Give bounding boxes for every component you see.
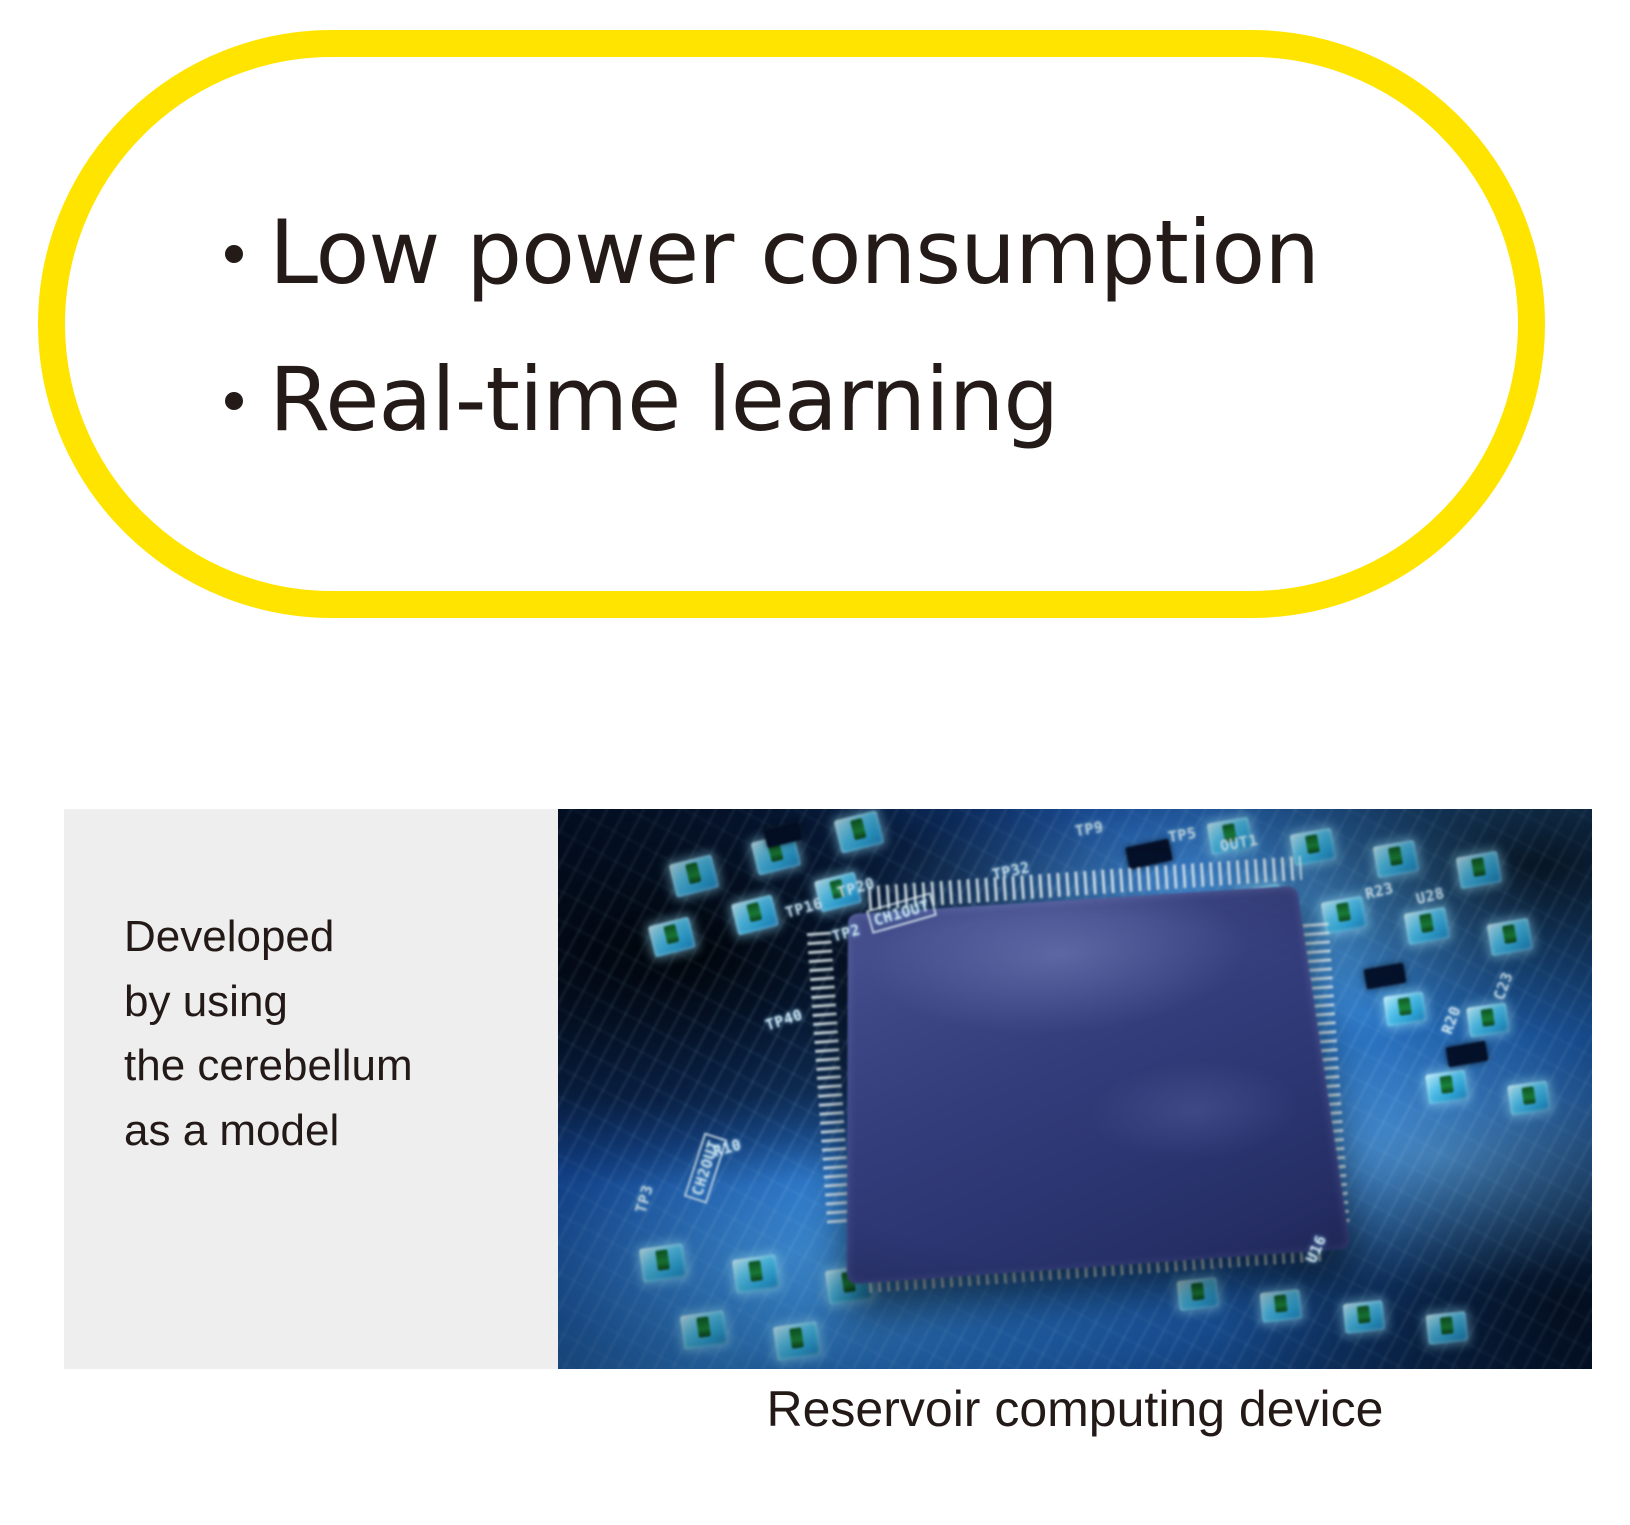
slide-canvas: Low power consumption Real-time learning… <box>0 0 1630 1525</box>
pcb-pad <box>1177 1277 1220 1311</box>
pcb-pad <box>1486 918 1533 957</box>
list-item: Real-time learning <box>225 352 1545 447</box>
info-panel-line-4: as a model <box>124 1099 544 1164</box>
bullet-dot-icon <box>225 392 243 410</box>
pcb-pad <box>1403 906 1450 945</box>
pcb-pad <box>1383 991 1427 1026</box>
info-panel-line-3: the cerebellum <box>124 1034 544 1099</box>
pcb-pad <box>668 855 719 899</box>
silkscreen-label-r23: R23 <box>1363 879 1395 903</box>
pcb-pad <box>1260 1289 1303 1323</box>
smd-component <box>1363 962 1406 989</box>
lower-content-block: Developed by using the cerebellum as a m… <box>64 809 1592 1369</box>
pcb-pad <box>1207 817 1254 856</box>
ic-glint <box>846 885 1350 1284</box>
silkscreen-label-r10: R10 <box>711 1136 743 1161</box>
silkscreen-label-u28: U28 <box>1414 884 1446 908</box>
ic-pins-left <box>806 932 850 1224</box>
pcb-pad <box>1507 1081 1551 1116</box>
pcb-pad <box>813 872 861 913</box>
pcb-pad <box>731 894 779 935</box>
bullet-dot-icon <box>225 245 243 263</box>
silkscreen-label-r20: R20 <box>1438 1003 1465 1036</box>
pcb-pad <box>680 1310 728 1350</box>
pcb-pad <box>1425 1311 1468 1345</box>
pcb-pad <box>1455 850 1502 889</box>
list-item: Low power consumption <box>225 205 1545 300</box>
circuit-board-photo: TP2 CH1OUT TP16 TP20 CH2OUT TP40 TP32 TP… <box>558 809 1592 1369</box>
pcb-pad <box>1425 1070 1469 1105</box>
info-panel-line-2: by using <box>124 970 544 1035</box>
silkscreen-label-ch2out: CH2OUT <box>684 1133 728 1204</box>
silkscreen-label-tp3: TP3 <box>632 1183 657 1215</box>
pcb-pad <box>732 1254 780 1294</box>
bullet-label-low-power: Low power consumption <box>269 205 1319 300</box>
silkscreen-label-tp40: TP40 <box>763 1005 805 1034</box>
yellow-callout-box: Low power consumption Real-time learning <box>38 30 1545 618</box>
silkscreen-label-tp9: TP9 <box>1074 818 1105 841</box>
pcb-pad <box>1372 839 1419 878</box>
silkscreen-label-tp5: TP5 <box>1167 823 1198 846</box>
pcb-pad <box>1342 1300 1385 1334</box>
info-panel-line-1: Developed <box>124 905 544 970</box>
pcb-pad <box>773 1321 821 1361</box>
photo-caption: Reservoir computing device <box>558 1382 1592 1437</box>
central-integrated-circuit <box>846 885 1350 1284</box>
silkscreen-label-c23: C23 <box>1490 969 1517 1002</box>
pcb-pad <box>1466 1002 1510 1037</box>
pcb-pad <box>648 916 696 957</box>
smd-component <box>1446 1041 1489 1068</box>
bullet-label-realtime-learning: Real-time learning <box>269 352 1058 447</box>
info-panel: Developed by using the cerebellum as a m… <box>64 809 558 1369</box>
feature-bullet-list: Low power consumption Real-time learning <box>225 205 1545 447</box>
smd-component <box>763 822 802 848</box>
info-panel-text: Developed by using the cerebellum as a m… <box>124 905 544 1164</box>
pcb-pad <box>834 810 885 854</box>
pcb-pad <box>639 1243 687 1283</box>
